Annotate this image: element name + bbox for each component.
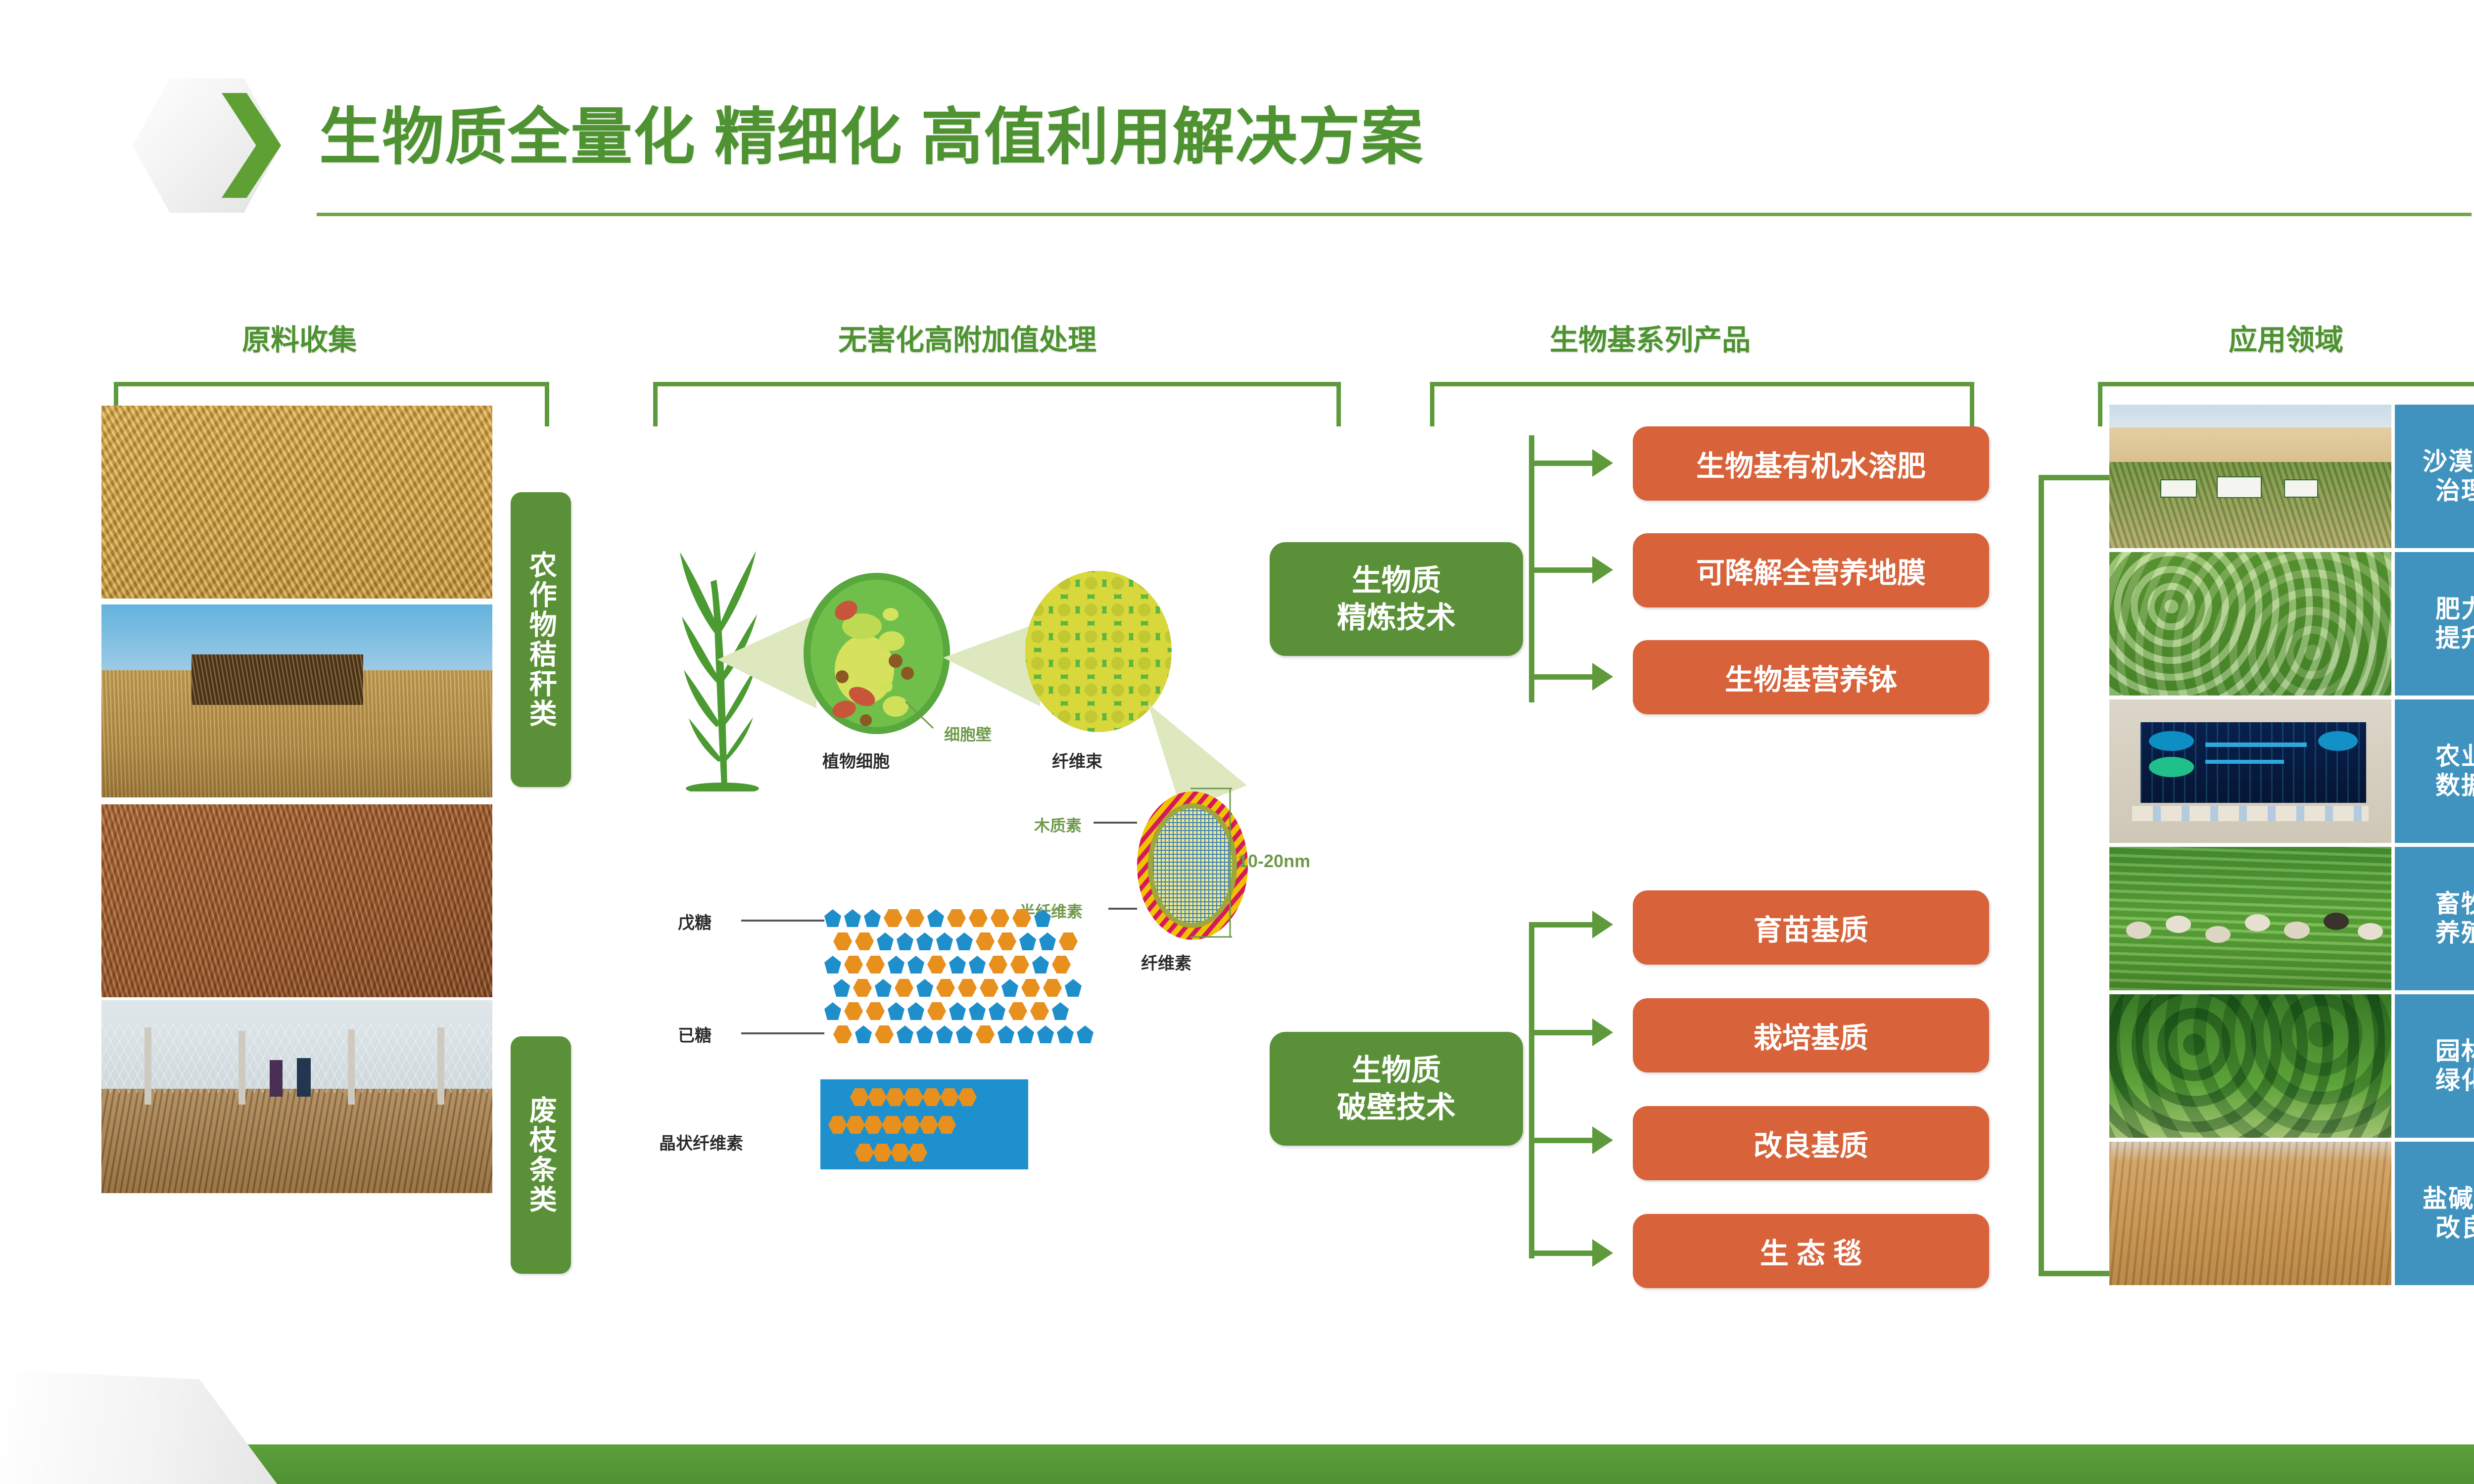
label-hexose: 已糖 [678, 1022, 712, 1046]
application-landscape-greening[interactable]: 园林 绿化 [2395, 994, 2474, 1138]
label-cellulose: 纤维素 [1141, 950, 1191, 974]
arrow-branch-2 [1529, 567, 1593, 573]
bio-based-nutrient-pot[interactable]: 生物基营养钵 [1633, 640, 1989, 714]
sugar-chain-diagram [824, 909, 1082, 1053]
arrow-head-1 [1592, 449, 1613, 477]
biomass-wall-breaking-tech[interactable]: 生物质 破壁技术 [1270, 1032, 1523, 1146]
cabbage-field-photo [2109, 552, 2391, 696]
arrow-trunk-wallbreaking [1529, 922, 1534, 1258]
crystalline-cellulose-icon [820, 1079, 1028, 1169]
tech-line-2: 精炼技术 [1337, 599, 1456, 636]
footer-wedge-shape [0, 1370, 277, 1484]
app-line-1: 盐碱地 [2423, 1184, 2474, 1213]
page-title: 生物质全量化 精细化 高值利用解决方案 [319, 87, 1424, 176]
corn-stalks-photo [101, 406, 492, 599]
application-fertility-improvement[interactable]: 肥力 提升 [2395, 552, 2474, 696]
label-fiber-bundle: 纤维束 [1052, 748, 1102, 772]
arrow-branch-1 [1529, 461, 1593, 466]
arrow-head-6 [1592, 1126, 1613, 1154]
straw-field-photo [101, 604, 492, 797]
page-header: 生物质全量化 精细化 高值利用解决方案 [0, 0, 2474, 232]
dry-branches-photo [101, 804, 492, 997]
app-line-1: 农业 [2435, 742, 2474, 771]
arrow-head-4 [1592, 911, 1613, 938]
application-desertification-control[interactable]: 沙漠化 治理 [2395, 405, 2474, 548]
improvement-substrate[interactable]: 改良基质 [1633, 1106, 1989, 1180]
app-line-2: 绿化 [2435, 1066, 2474, 1095]
sandy-soil-photo [2109, 1142, 2391, 1285]
label-plant-cell: 植物细胞 [822, 748, 890, 772]
application-agricultural-data[interactable]: 农业 数据 [2395, 699, 2474, 843]
label-crystalline-cellulose: 晶状纤维素 [659, 1130, 743, 1154]
bracket-processing [653, 382, 1341, 426]
leader-line-lignin [1094, 820, 1138, 825]
plant-cell-icon [803, 572, 951, 735]
arrow-head-3 [1592, 663, 1613, 691]
app-line-1: 园林 [2435, 1037, 2474, 1066]
crop-straw-label: 农作物秸秆类 [511, 492, 571, 787]
footer-bar [0, 1444, 2474, 1484]
section-header-raw-material: 原料收集 [139, 317, 460, 358]
app-line-2: 数据 [2435, 771, 2474, 800]
section-header-applications: 应用领域 [2128, 317, 2444, 358]
app-line-1: 沙漠化 [2423, 447, 2474, 476]
biomass-structure-diagram: 植物细胞 细胞壁 纤维束 10-20nm 木质素 半纤维素 [628, 505, 1247, 1276]
arrow-branch-7 [1529, 1251, 1593, 1256]
app-line-2: 改良 [2423, 1213, 2474, 1243]
bracket-products [1430, 382, 1974, 426]
app-line-1: 畜牧 [2435, 889, 2474, 919]
leader-line-hemicellulose [1108, 906, 1138, 911]
tech-line-1: 生物质 [1352, 562, 1441, 599]
data-control-room-photo [2109, 699, 2391, 843]
app-line-2: 提升 [2435, 624, 2474, 653]
tech-line-1: 生物质 [1352, 1052, 1441, 1089]
label-cell-wall: 细胞壁 [944, 722, 992, 745]
biomass-refining-tech[interactable]: 生物质 精炼技术 [1270, 542, 1523, 656]
bio-organic-water-soluble-fertilizer[interactable]: 生物基有机水溶肥 [1633, 426, 1989, 501]
leader-line-pentose [741, 918, 825, 923]
label-pentose: 戊糖 [678, 909, 712, 933]
application-saline-alkali-improvement[interactable]: 盐碱地 改良 [2395, 1142, 2474, 1285]
leader-line-hexose [741, 1031, 825, 1036]
degradable-full-nutrient-mulch-film[interactable]: 可降解全营养地膜 [1633, 533, 1989, 607]
desert-greening-photo [2109, 405, 2391, 548]
section-header-processing: 无害化高附加值处理 [708, 317, 1227, 358]
waste-branch-label: 废枝条类 [511, 1036, 571, 1274]
app-line-2: 治理 [2423, 476, 2474, 506]
app-line-1: 肥力 [2435, 595, 2474, 624]
label-dimension: 10-20nm [1238, 851, 1310, 872]
sheep-pasture-photo [2109, 847, 2391, 990]
arrow-branch-4 [1529, 922, 1593, 927]
arrow-branch-3 [1529, 674, 1593, 680]
title-divider [317, 213, 2472, 216]
arrow-branch-5 [1529, 1030, 1593, 1035]
seedling-substrate[interactable]: 育苗基质 [1633, 890, 1989, 965]
ecological-blanket[interactable]: 生 态 毯 [1633, 1214, 1989, 1288]
arrow-branch-6 [1529, 1138, 1593, 1143]
app-line-2: 养殖 [2435, 919, 2474, 948]
arrow-head-5 [1592, 1019, 1613, 1046]
cultivation-substrate[interactable]: 栽培基质 [1633, 998, 1989, 1072]
park-trees-photo [2109, 994, 2391, 1138]
arrow-head-7 [1592, 1239, 1613, 1267]
tech-line-2: 破壁技术 [1337, 1089, 1456, 1126]
orchard-pruning-photo [101, 1000, 492, 1193]
label-lignin: 木质素 [1034, 813, 1082, 836]
arrow-head-2 [1592, 556, 1613, 584]
section-header-products: 生物基系列产品 [1435, 317, 1865, 358]
application-livestock-breeding[interactable]: 畜牧 养殖 [2395, 847, 2474, 990]
